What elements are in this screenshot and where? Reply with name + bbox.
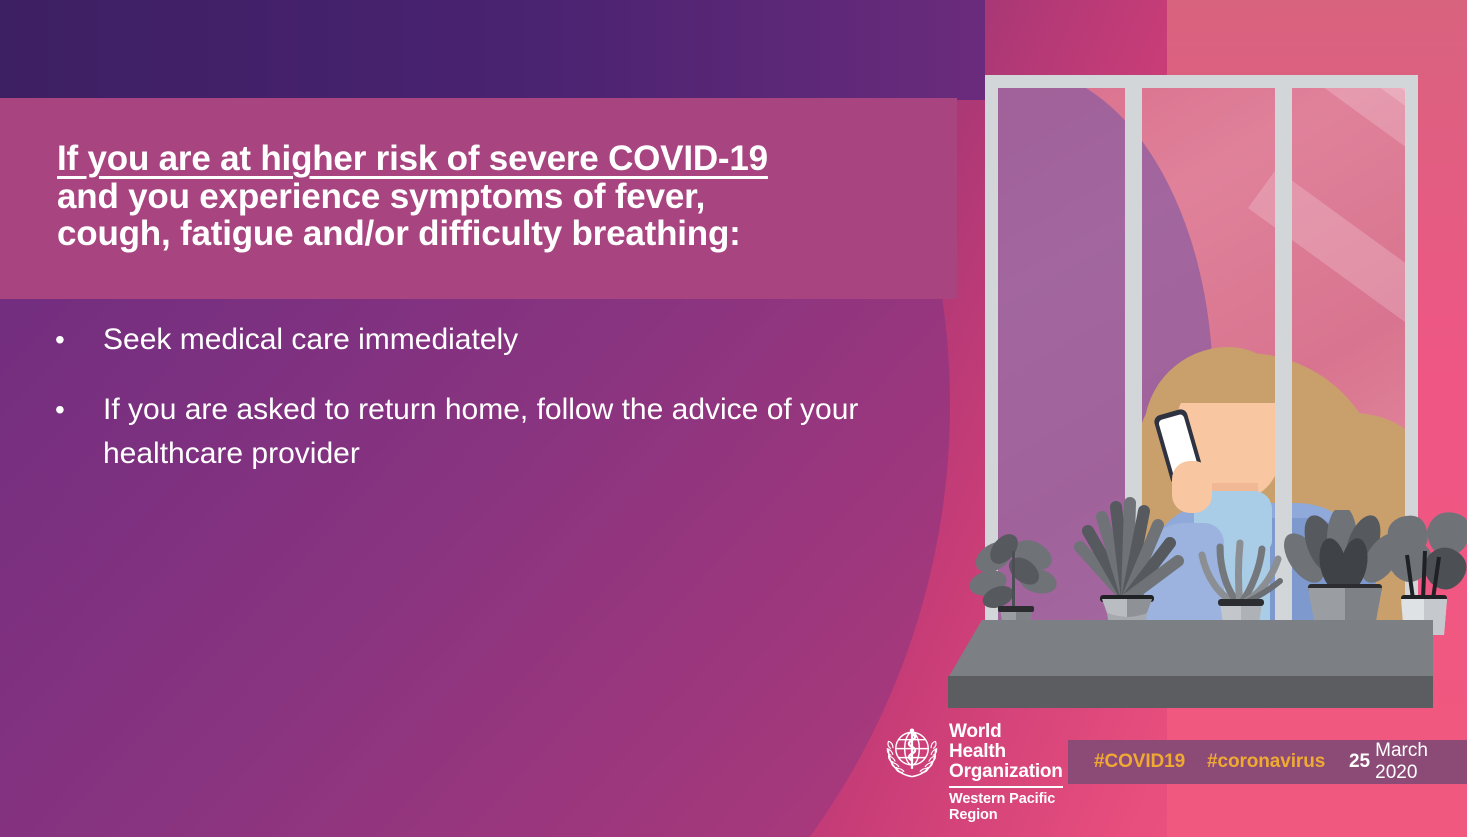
headline-line-1: If you are at higher risk of severe COVI…: [57, 140, 957, 178]
illustration-woman-on-phone: [940, 0, 1467, 837]
headline-band: If you are at higher risk of severe COVI…: [0, 98, 957, 299]
who-logo: World Health Organization Western Pacifi…: [884, 722, 1049, 804]
bullet-marker-icon: •: [55, 318, 103, 362]
potted-plant-monstera: [1377, 505, 1467, 640]
bullet-list: • Seek medical care immediately • If you…: [55, 318, 935, 502]
hashtag-coronavirus[interactable]: #coronavirus: [1207, 751, 1325, 773]
potted-plant-rubber: [960, 525, 1070, 635]
bullet-marker-icon: •: [55, 388, 103, 432]
background-top-dark-strip: [0, 0, 985, 100]
who-divider: [949, 786, 1063, 788]
who-name-line-2: Organization: [949, 762, 1063, 782]
hashtag-covid19[interactable]: #COVID19: [1094, 751, 1185, 773]
balcony-ledge-top: [948, 620, 1433, 678]
headline-line-3: cough, fatigue and/or difficulty breathi…: [57, 215, 957, 253]
bullet-text: If you are asked to return home, follow …: [103, 388, 935, 476]
balcony-ledge-front: [948, 676, 1433, 708]
bullet-text: Seek medical care immediately: [103, 318, 518, 362]
footer-tag-bar: #COVID19 #coronavirus 25 March 2020: [1068, 740, 1467, 784]
who-region-label: Western Pacific Region: [949, 791, 1063, 823]
potted-plant-fan: [1060, 495, 1195, 635]
list-item: • If you are asked to return home, follo…: [55, 388, 935, 476]
headline-line-2: and you experience symptoms of fever,: [57, 178, 957, 216]
date-day: 25: [1349, 751, 1370, 773]
list-item: • Seek medical care immediately: [55, 318, 935, 362]
date-month-year: March 2020: [1370, 740, 1467, 784]
poster-canvas: If you are at higher risk of severe COVI…: [0, 0, 1467, 837]
who-emblem-icon: [884, 724, 940, 780]
who-wordmark: World Health Organization Western Pacifi…: [949, 722, 1063, 823]
hair-fringe: [1168, 361, 1288, 403]
who-name-line-1: World Health: [949, 722, 1063, 762]
